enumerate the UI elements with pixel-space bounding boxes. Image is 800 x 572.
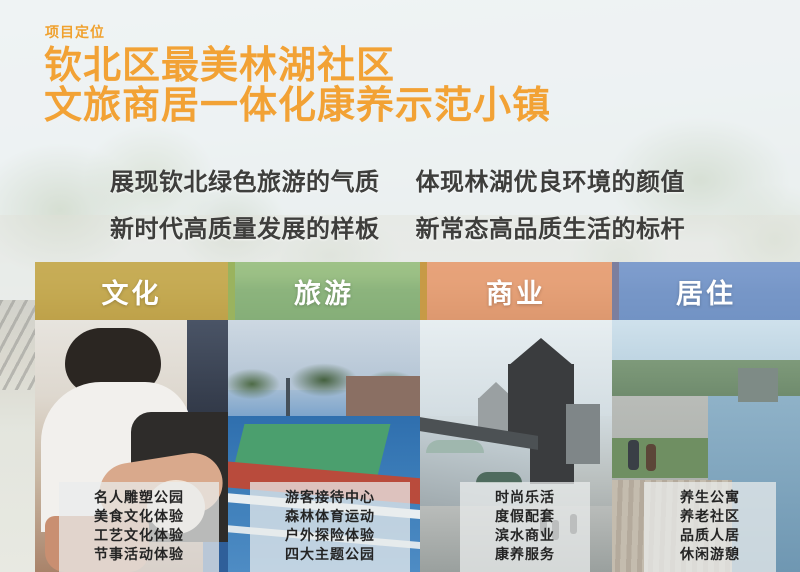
list-item: 游客接待中心	[285, 489, 375, 506]
category-panel: 文化 名人雕塑公园 美食文化体验 工艺文化体验 节事活动体验	[35, 262, 800, 572]
list-item: 品质人居	[680, 527, 740, 544]
photo-tourism: 游客接待中心 森林体育运动 户外探险体验 四大主题公园	[228, 320, 420, 572]
category-header-commerce: 商业	[420, 262, 612, 320]
photo-villa	[738, 368, 778, 402]
header-divider-commerce	[420, 262, 427, 320]
photo-planting-strip	[612, 438, 708, 478]
header-divider-tourism	[228, 262, 235, 320]
subtitle-row: 新时代高质量发展的样板 新常态高品质生活的标杆	[110, 209, 770, 244]
title-line-1: 钦北区最美林湖社区	[44, 45, 395, 87]
list-item: 滨水商业	[495, 527, 555, 544]
category-title-commerce: 商业	[486, 272, 546, 311]
label-box-commerce: 时尚乐活 度假配套 滨水商业 康养服务	[460, 482, 590, 572]
title-line-2: 文旅商居一体化康养示范小镇	[44, 88, 551, 124]
label-box-culture: 名人雕塑公园 美食文化体验 工艺文化体验 节事活动体验	[59, 482, 219, 572]
photo-side-building	[566, 404, 600, 464]
photo-umbrella	[426, 440, 484, 453]
list-item: 节事活动体验	[94, 546, 184, 563]
label-box-tourism: 游客接待中心 森林体育运动 户外探险体验 四大主题公园	[250, 482, 410, 572]
subtitle-right-1: 体现林湖优良环境的颜值	[416, 162, 686, 197]
category-header-tourism: 旅游	[228, 262, 420, 320]
list-item: 时尚乐活	[495, 489, 555, 506]
subtitle-group: 展现钦北绿色旅游的气质 体现林湖优良环境的颜值 新时代高质量发展的样板 新常态高…	[110, 162, 770, 256]
category-title-residence: 居住	[676, 272, 736, 311]
photo-culture: 名人雕塑公园 美食文化体验 工艺文化体验 节事活动体验	[35, 320, 228, 572]
list-item: 工艺文化体验	[94, 527, 184, 544]
list-item: 康养服务	[495, 546, 555, 563]
eyebrow-label: 项目定位	[45, 22, 105, 42]
subtitle-row: 展现钦北绿色旅游的气质 体现林湖优良环境的颜值	[110, 162, 770, 197]
list-item: 休闲游憩	[680, 546, 740, 563]
category-column-residence[interactable]: 居住 养生公寓 养老社区 品质人居 休闲游憩	[612, 262, 800, 572]
subtitle-left-1: 展现钦北绿色旅游的气质	[110, 162, 380, 197]
header-divider-residence	[612, 262, 619, 320]
photo-commerce: 时尚乐活 度假配套 滨水商业 康养服务	[420, 320, 612, 572]
list-item: 美食文化体验	[94, 508, 184, 525]
category-header-residence: 居住	[612, 262, 800, 320]
list-item: 森林体育运动	[285, 508, 375, 525]
label-box-residence: 养生公寓 养老社区 品质人居 休闲游憩	[644, 482, 776, 572]
page-title: 钦北区最美林湖社区 文旅商居一体化康养示范小镇	[44, 48, 551, 124]
photo-residence: 养生公寓 养老社区 品质人居 休闲游憩	[612, 320, 800, 572]
category-column-tourism[interactable]: 旅游 游客接待中心 森林体育运动 户外探险体验 四大主题公园	[228, 262, 420, 572]
list-item: 度假配套	[495, 508, 555, 525]
photo-pedestrian	[628, 440, 639, 470]
category-header-culture: 文化	[35, 262, 228, 320]
background-left-railing	[0, 300, 40, 390]
photo-pedestrian	[646, 444, 656, 471]
list-item: 四大主题公园	[285, 546, 375, 563]
category-column-culture[interactable]: 文化 名人雕塑公园 美食文化体验 工艺文化体验 节事活动体验	[35, 262, 228, 572]
list-item: 养生公寓	[680, 489, 740, 506]
presentation-slide: 项目定位 钦北区最美林湖社区 文旅商居一体化康养示范小镇 展现钦北绿色旅游的气质…	[0, 0, 800, 572]
subtitle-right-2: 新常态高品质生活的标杆	[416, 209, 686, 244]
list-item: 养老社区	[680, 508, 740, 525]
list-item: 名人雕塑公园	[94, 489, 184, 506]
category-column-commerce[interactable]: 商业 时尚乐活 度假配套 滨水商业 康养服务	[420, 262, 612, 572]
subtitle-left-2: 新时代高质量发展的样板	[110, 209, 380, 244]
category-title-tourism: 旅游	[294, 272, 354, 311]
category-title-culture: 文化	[102, 272, 162, 311]
list-item: 户外探险体验	[285, 527, 375, 544]
